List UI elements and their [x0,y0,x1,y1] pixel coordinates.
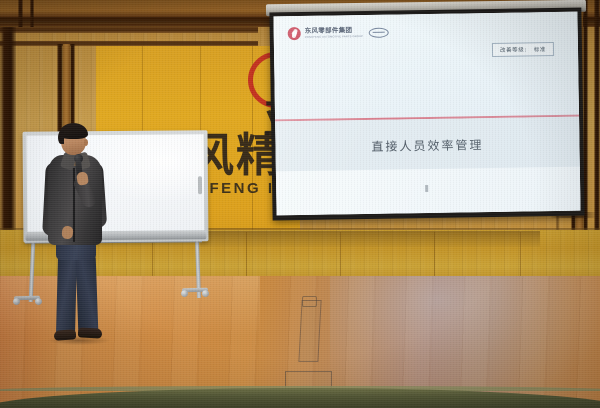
slide-cursor-artifact [425,185,428,192]
slide-tag-value: 标准 [534,45,546,53]
whiteboard-caster [202,290,209,297]
dongfeng-logo-icon [288,27,301,40]
wall-seam [246,232,247,280]
wall-seam [520,232,521,280]
projection-surface: 东风零部件集团 DONGFENG AUTOMOTIVE PARTS GROUP … [273,12,580,216]
wall-shadow [200,231,540,247]
presenter-leg-left [56,254,77,336]
pilaster-stripe [0,27,16,232]
presenter-shoe-right [78,327,102,338]
whiteboard-caster [13,298,20,305]
wall-seam [434,232,435,280]
slide-tag-box: 改善等级: 标准 [492,42,554,57]
presenter-ear [84,139,88,146]
whiteboard-marker-clip [198,176,202,194]
floor-cable-panel [298,300,321,362]
presenter-hair-side [58,131,64,144]
nissan-sub-logo-icon [369,27,389,37]
presenter-leg-right [76,254,99,335]
slide-lower-area [276,167,581,216]
pilaster-stripe [18,0,23,27]
whiteboard-caster [181,290,188,297]
slide-title: 直接人员效率管理 [371,136,483,155]
presentation-slide: 东风零部件集团 DONGFENG AUTOMOTIVE PARTS GROUP … [273,12,580,216]
projection-screen: 东风零部件集团 DONGFENG AUTOMOTIVE PARTS GROUP … [269,8,584,221]
slide-logo-block: 东风零部件集团 DONGFENG AUTOMOTIVE PARTS GROUP [288,26,389,41]
pilaster-stripe [30,0,34,27]
wall-horizontal-trim [0,27,258,33]
wall-seam [340,232,341,280]
whiteboard-caster [35,298,42,305]
floor-cable-grommet [302,296,317,307]
floor-light-reflection [330,276,600,396]
presenter-shoe-left [54,329,77,341]
slide-title-band: 直接人员效率管理 [275,117,580,174]
floor-light-reflection-left [0,276,260,336]
slide-company-name-en: DONGFENG AUTOMOTIVE PARTS GROUP [305,35,363,39]
slide-tag-label: 改善等级: [500,45,527,53]
presenter-hand-holding-microphone [76,171,89,185]
photo-scene: 亚 风精密 NGFENG INVE 东风零部件集团 DONGFENG A [0,0,600,408]
